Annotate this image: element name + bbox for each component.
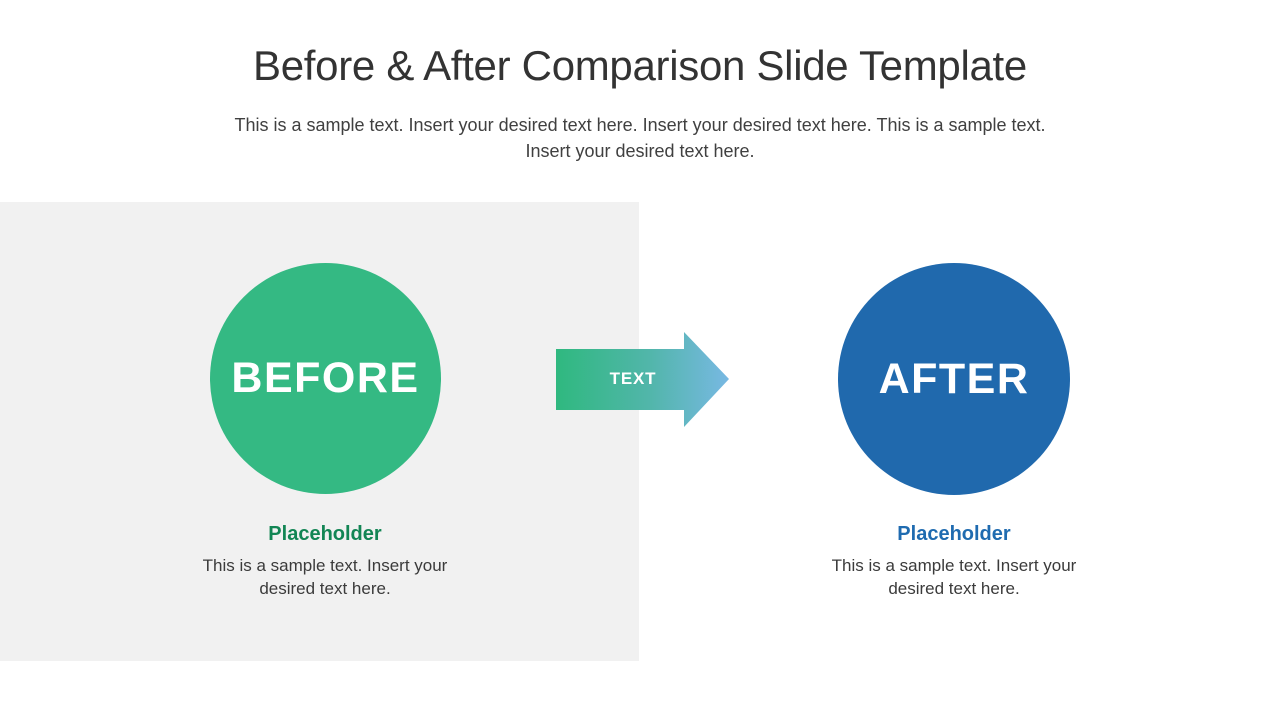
after-circle-label: AFTER [879,358,1030,401]
before-circle-label: BEFORE [231,357,419,400]
right-arrow-icon[interactable]: TEXT [553,328,731,430]
after-caption-body[interactable]: This is a sample text. Insert your desir… [804,554,1104,600]
after-caption-block: Placeholder This is a sample text. Inser… [804,520,1104,600]
before-caption-body[interactable]: This is a sample text. Insert your desir… [175,554,475,600]
slide-subtitle: This is a sample text. Insert your desir… [228,112,1052,164]
after-circle[interactable]: AFTER [838,263,1070,495]
before-circle[interactable]: BEFORE [210,263,441,494]
arrow-label: TEXT [553,328,711,430]
after-caption-title[interactable]: Placeholder [804,520,1104,548]
before-caption-block: Placeholder This is a sample text. Inser… [175,520,475,600]
page-title: Before & After Comparison Slide Template [0,38,1280,94]
before-caption-title[interactable]: Placeholder [175,520,475,548]
